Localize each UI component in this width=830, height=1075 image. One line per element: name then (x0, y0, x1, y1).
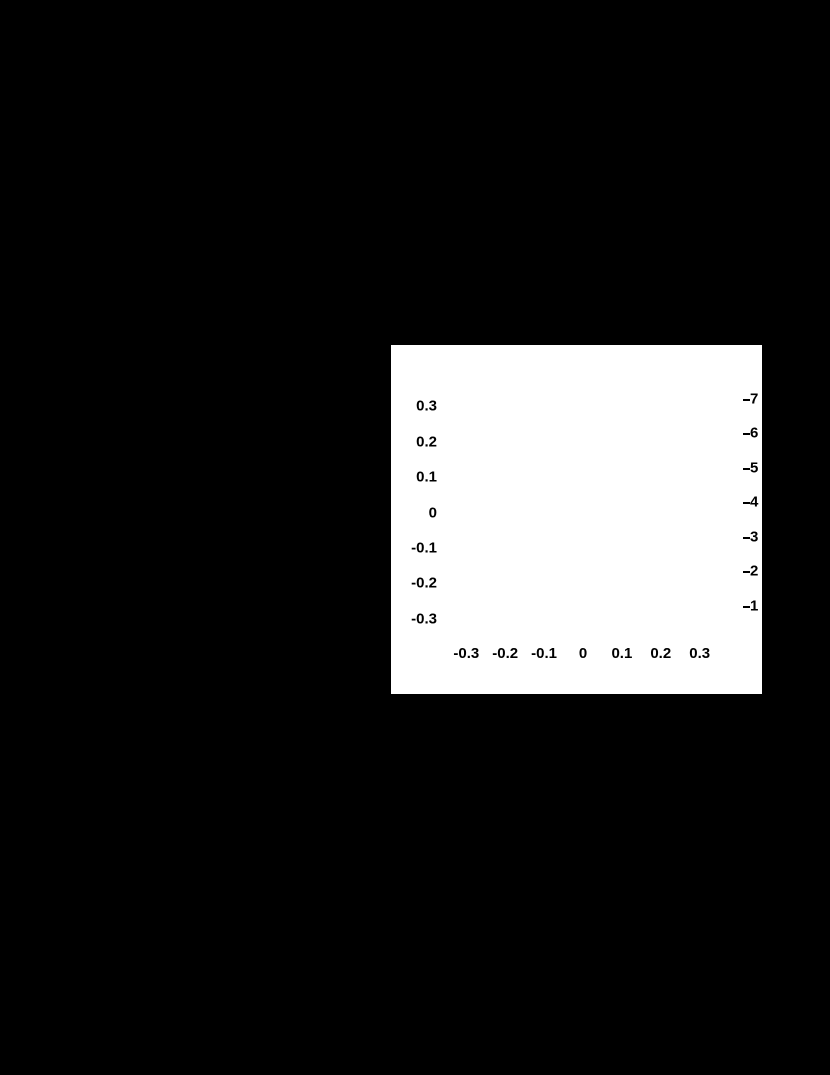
colorbar-tick-label: 3 (750, 528, 758, 545)
y-axis-tick-label: -0.1 (411, 539, 437, 556)
colorbar-tick-label: 7 (750, 390, 758, 407)
colorbar-tick (743, 571, 750, 573)
y-axis-tick-label: 0.1 (416, 469, 437, 486)
y-axis-tick-label: 0.3 (416, 398, 437, 415)
x-axis-tick-label: 0.1 (611, 645, 632, 662)
colorbar-tick-label: 2 (750, 563, 758, 580)
x-axis-tick-label: -0.1 (531, 645, 557, 662)
x-axis-tick-label: -0.3 (453, 645, 479, 662)
colorbar-tick-label: 6 (750, 425, 758, 442)
x-axis-tick-label: 0 (579, 645, 587, 662)
x-axis-tick-label: 0.3 (689, 645, 710, 662)
colorbar-tick (743, 399, 750, 401)
y-axis-title: β [deg.] (789, 704, 806, 758)
colorbar-tick (743, 606, 750, 608)
figure-canvas: Restored Count Map (i=20) -0.3-0.2-0.100… (391, 345, 762, 694)
y-axis-tick-label: 0 (429, 504, 437, 521)
colorbar-tick-label: 1 (750, 597, 758, 614)
colorbar-tick (743, 537, 750, 539)
x-axis-tick-label: 0.2 (650, 645, 671, 662)
y-axis-tick-label: -0.2 (411, 575, 437, 592)
colorbar-tick-label: 5 (750, 459, 758, 476)
colorbar-tick-label: 4 (750, 494, 758, 511)
colorbar-tick (743, 502, 750, 504)
x-axis-tick-label: -0.2 (492, 645, 518, 662)
colorbar-tick (743, 433, 750, 435)
y-axis-tick-label: 0.2 (416, 433, 437, 450)
colorbar-tick (743, 468, 750, 470)
y-axis-tick-label: -0.3 (411, 610, 437, 627)
